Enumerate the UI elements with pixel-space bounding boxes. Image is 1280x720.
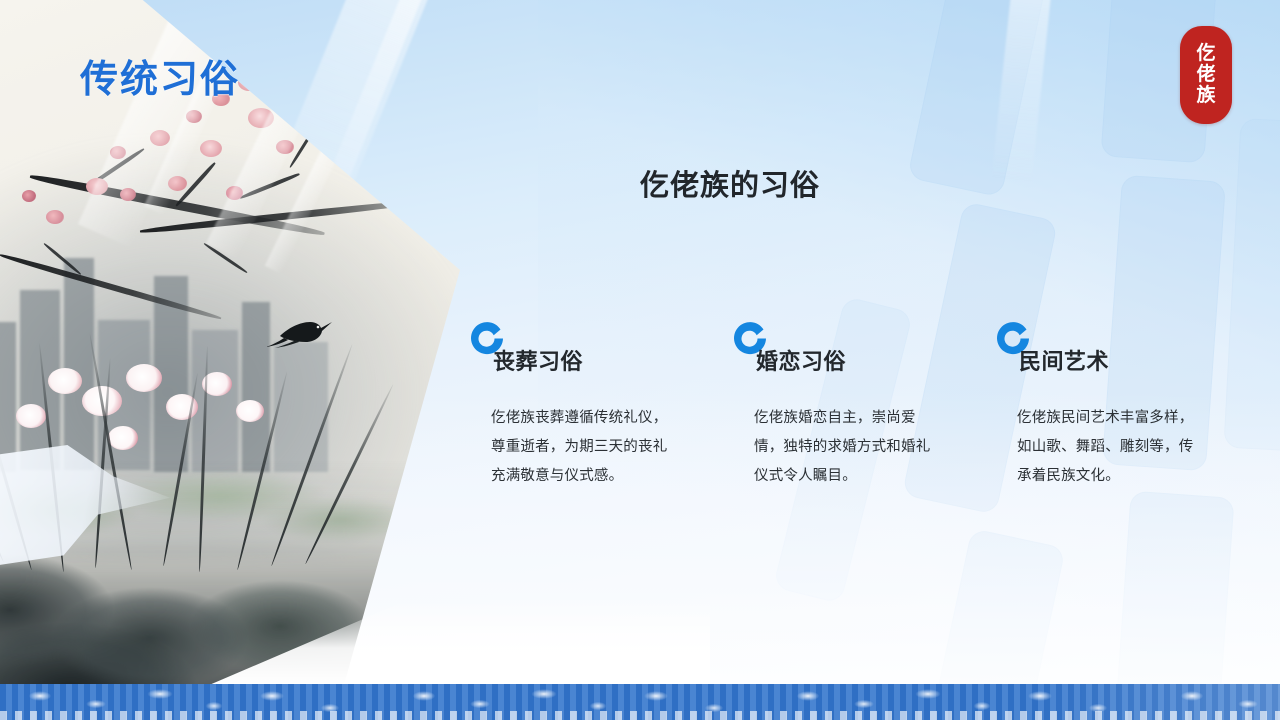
plum-blossom [200,140,222,157]
ethnic-seal-stamp: 仡 佬 族 [1180,26,1232,124]
presentation-slide: 传统习俗 仡 佬 族 仡佬族的习俗 丧葬习俗 仡佬族丧葬遵循传统礼仪，尊重逝者，… [0,0,1280,720]
plum-blossom [46,210,64,224]
custom-column-marriage: 婚恋习俗 仡佬族婚恋自主，崇尚爱情，独特的求婚方式和婚礼仪式令人瞩目。 [726,318,931,491]
custom-columns: 丧葬习俗 仡佬族丧葬遵循传统礼仪，尊重逝者，为期三天的丧礼充满敬意与仪式感。 婚… [463,318,1203,491]
misty-city-silhouette [64,258,94,470]
page-title: 传统习俗 [80,48,240,103]
section-heading: 仡佬族的习俗 [0,162,1280,204]
batik-fade [1040,684,1280,720]
column-header: 丧葬习俗 [463,318,668,380]
column-title: 民间艺术 [1019,344,1109,376]
magnolia-blossom [126,364,162,392]
seal-char: 佬 [1196,65,1215,85]
column-body-text: 仡佬族婚恋自主，崇尚爱情，独特的求婚方式和婚礼仪式令人瞩目。 [754,404,938,491]
column-title: 婚恋习俗 [756,344,846,376]
column-header: 婚恋习俗 [726,318,931,380]
seal-char: 仡 [1196,44,1215,64]
bird-icon [266,306,336,348]
column-header: 民间艺术 [989,318,1194,380]
column-body-text: 仡佬族民间艺术丰富多样，如山歌、舞蹈、雕刻等，传承着民族文化。 [1017,404,1201,491]
column-body-text: 仡佬族丧葬遵循传统礼仪，尊重逝者，为期三天的丧礼充满敬意与仪式感。 [491,404,675,491]
seal-char: 族 [1196,86,1215,106]
column-title: 丧葬习俗 [493,344,583,376]
magnolia-blossom [16,404,46,428]
magnolia-blossom [236,400,264,422]
magnolia-blossom [108,426,138,450]
custom-column-funeral: 丧葬习俗 仡佬族丧葬遵循传统礼仪，尊重逝者，为期三天的丧礼充满敬意与仪式感。 [463,318,668,491]
magnolia-blossom [48,368,82,394]
custom-column-folk-art: 民间艺术 仡佬族民间艺术丰富多样，如山歌、舞蹈、雕刻等，传承着民族文化。 [989,318,1194,491]
